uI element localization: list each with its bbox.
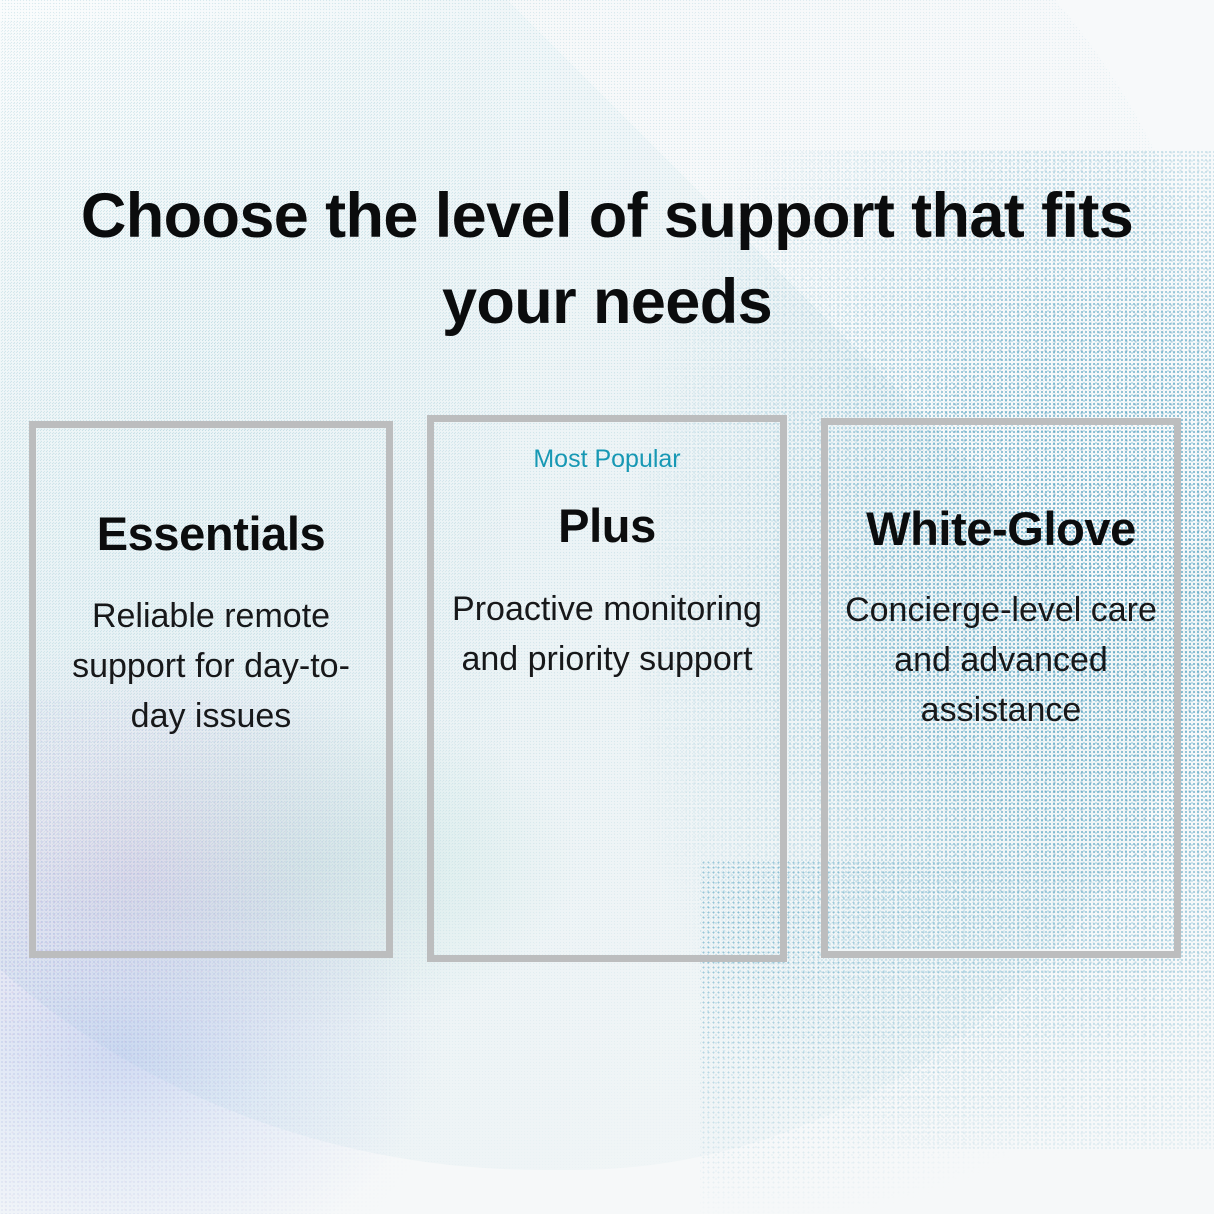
plan-card-plus[interactable]: Most Popular Plus Proactive monitoring a… <box>427 415 787 962</box>
plan-card-essentials[interactable]: Essentials Reliable remote support for d… <box>29 421 393 958</box>
plan-description-plus: Proactive monitoring and priority suppor… <box>444 584 770 684</box>
plan-title-white-glove: White-Glove <box>812 501 1190 557</box>
page-content: Choose the level of support that fits yo… <box>0 0 1214 1214</box>
plan-title-essentials: Essentials <box>20 506 402 562</box>
most-popular-badge: Most Popular <box>434 444 780 474</box>
plan-title-plus: Plus <box>418 498 796 554</box>
plan-card-white-glove[interactable]: White-Glove Concierge-level care and adv… <box>821 418 1181 958</box>
plan-description-white-glove: Concierge-level care and advanced assist… <box>838 585 1164 735</box>
pricing-plan-cards: Essentials Reliable remote support for d… <box>0 0 1214 1214</box>
plan-description-essentials: Reliable remote support for day-to-day i… <box>46 591 376 741</box>
